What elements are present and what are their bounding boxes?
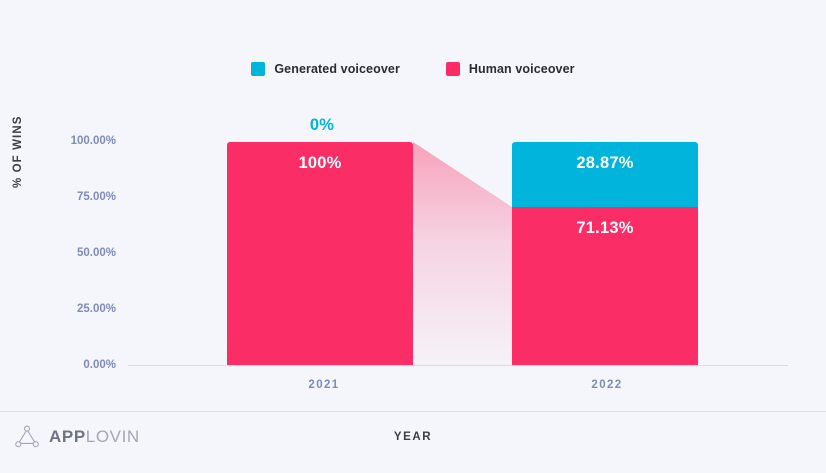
y-tick-25: 25.00% (77, 303, 116, 315)
x-tick-2021: 2021 (308, 379, 339, 391)
bar-2022-segment-generated[interactable]: 28.87% (512, 142, 698, 207)
bar-2021[interactable]: 100% (227, 142, 413, 365)
bar-2021-generated-value: 0% (310, 116, 334, 135)
bar-2022[interactable]: 28.87% 71.13% (512, 142, 698, 365)
footer-divider (0, 411, 826, 412)
applovin-triangle-icon (14, 425, 40, 449)
y-tick-50: 50.00% (77, 247, 116, 259)
legend-swatch-human-icon (446, 62, 460, 76)
bar-2021-segment-human[interactable]: 100% (227, 142, 413, 365)
chart-page: Generated voiceover Human voiceover 100.… (0, 0, 826, 473)
brand-wordmark-bold: APP (49, 427, 86, 446)
y-tick-75: 75.00% (77, 191, 116, 203)
y-axis-title: % OF WINS (12, 115, 24, 188)
x-tick-2022: 2022 (591, 379, 622, 391)
brand-wordmark-light: LOVIN (86, 427, 140, 446)
legend-item-generated-voiceover[interactable]: Generated voiceover (251, 62, 400, 76)
x-axis-baseline (128, 365, 788, 366)
y-axis-ticks: 100.00% 75.00% 50.00% 25.00% 0.00% (0, 0, 124, 473)
bar-2021-human-value: 100% (298, 154, 341, 173)
legend-label-generated: Generated voiceover (274, 62, 400, 76)
legend-label-human: Human voiceover (469, 62, 575, 76)
legend-swatch-generated-icon (251, 62, 265, 76)
brand-wordmark: APPLOVIN (49, 427, 140, 447)
y-tick-100: 100.00% (71, 135, 116, 147)
brand-logo: APPLOVIN (14, 425, 140, 449)
bar-2022-generated-value: 28.87% (576, 154, 633, 173)
bar-2022-human-value: 71.13% (576, 219, 633, 238)
y-tick-0: 0.00% (83, 359, 116, 371)
bar-2022-segment-human[interactable]: 71.13% (512, 207, 698, 365)
legend-item-human-voiceover[interactable]: Human voiceover (446, 62, 575, 76)
